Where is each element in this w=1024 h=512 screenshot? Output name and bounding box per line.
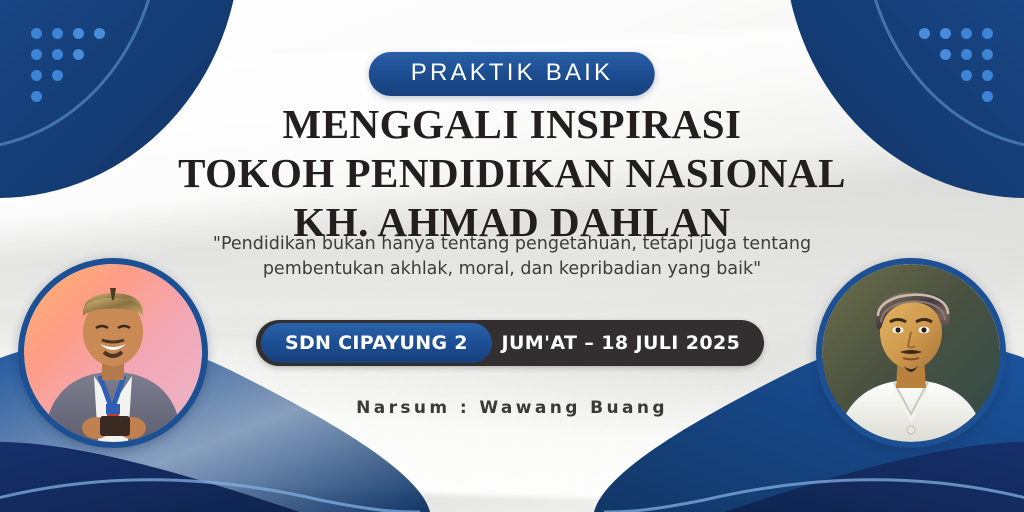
ahmad-dahlan-portrait-illustration: [822, 264, 1000, 442]
avatar-figure-image: [822, 264, 1000, 442]
speaker-portrait-illustration: [24, 264, 202, 442]
title-line-1: MENGGALI INSPIRASI: [0, 104, 1024, 145]
avatar-speaker-image: [24, 264, 202, 442]
praktik-baik-badge: PRAKTIK BAIK: [369, 52, 655, 96]
poster-canvas: PRAKTIK BAIK MENGGALI INSPIRASI TOKOH PE…: [0, 0, 1024, 512]
event-date-label: JUM'AT – 18 JULI 2025: [492, 332, 764, 354]
title-line-2: TOKOH PENDIDIKAN NASIONAL: [0, 153, 1024, 194]
quote-text: "Pendidikan bukan hanya tentang pengetah…: [192, 232, 832, 282]
dot-grid-icon: [31, 28, 115, 112]
avatar-speaker-photo: [18, 258, 208, 448]
event-info-bar: SDN CIPAYUNG 2 JUM'AT – 18 JULI 2025: [256, 320, 764, 366]
praktik-baik-label: PRAKTIK BAIK: [411, 61, 613, 85]
school-badge: SDN CIPAYUNG 2: [261, 323, 492, 363]
dot-grid-icon: [909, 28, 993, 112]
page-title: MENGGALI INSPIRASI TOKOH PENDIDIKAN NASI…: [0, 104, 1024, 243]
avatar-figure-photo: [816, 258, 1006, 448]
